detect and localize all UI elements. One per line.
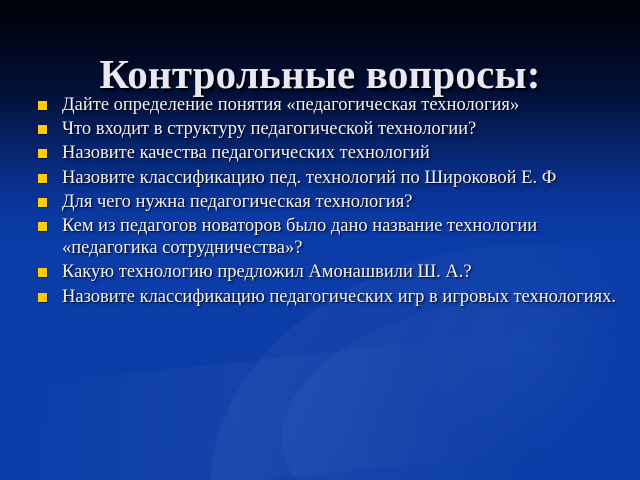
square-bullet-icon [38,198,47,207]
list-item: Для чего нужна педагогическая технология… [36,191,622,213]
list-item-label: Назовите классификацию пед. технологий п… [62,167,622,189]
list-item-label: Кем из педагогов новаторов было дано наз… [62,215,622,259]
list-item-label: Какую технологию предложил Амонашвили Ш.… [62,261,622,283]
list-item-label: Для чего нужна педагогическая технология… [62,191,622,213]
question-list: Дайте определение понятия «педагогическа… [36,94,622,310]
square-bullet-icon [38,149,47,158]
square-bullet-icon [38,222,47,231]
list-item-label: Что входит в структуру педагогической те… [62,118,622,140]
list-item: Какую технологию предложил Амонашвили Ш.… [36,261,622,283]
list-item-label: Назовите качества педагогических техноло… [62,142,622,164]
presentation-slide: Контрольные вопросы: Дайте определение п… [0,0,640,480]
square-bullet-icon [38,293,47,302]
list-item: Что входит в структуру педагогической те… [36,118,622,140]
list-item: Кем из педагогов новаторов было дано наз… [36,215,622,259]
background-swoosh-decoration-3 [0,333,525,480]
square-bullet-icon [38,268,47,277]
square-bullet-icon [38,101,47,110]
square-bullet-icon [38,125,47,134]
list-item: Назовите классификацию педагогических иг… [36,286,622,308]
list-item-label: Назовите классификацию педагогических иг… [62,286,622,308]
list-item: Назовите классификацию пед. технологий п… [36,167,622,189]
page-title: Контрольные вопросы: [99,53,540,96]
list-item: Назовите качества педагогических техноло… [36,142,622,164]
list-item-label: Дайте определение понятия «педагогическа… [62,94,622,116]
square-bullet-icon [38,174,47,183]
list-item: Дайте определение понятия «педагогическа… [36,94,622,116]
